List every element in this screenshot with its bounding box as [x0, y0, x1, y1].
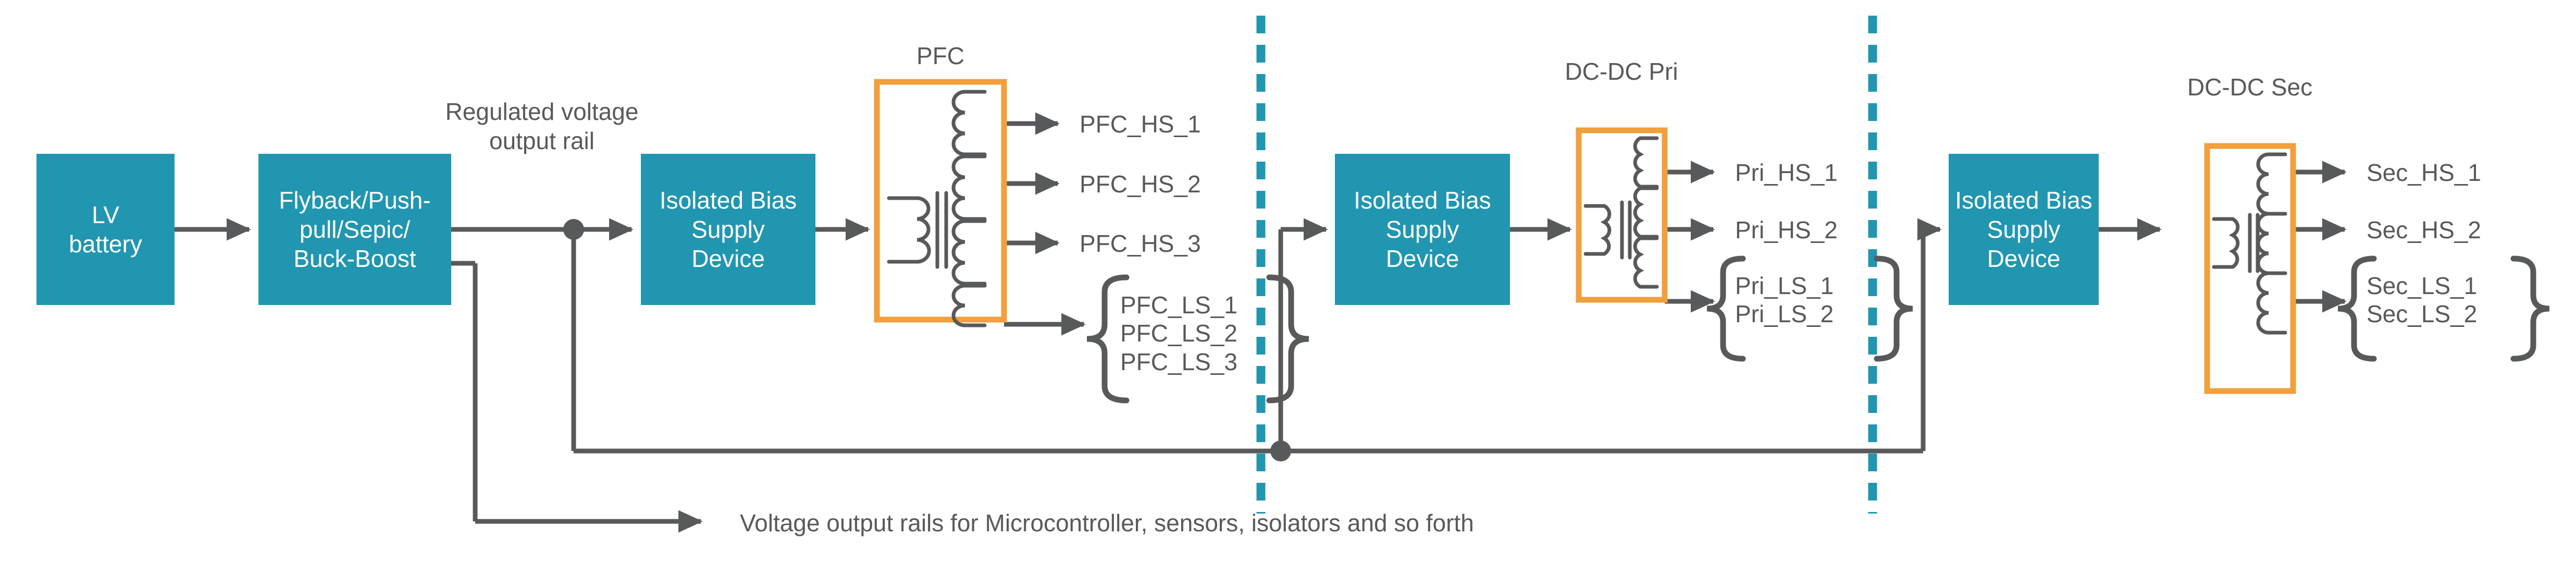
pin-sec-hs-1: Sec_HS_1: [2367, 158, 2481, 187]
pin-pfc-hs-1: PFC_HS_1: [1080, 109, 1201, 139]
label-regulated-rail: Regulated voltage output rail: [427, 97, 657, 155]
pin-pfc-hs-2: PFC_HS_2: [1080, 169, 1201, 199]
pin-group-sec-ls: Sec_LS_1 Sec_LS_2: [2367, 272, 2477, 328]
title-dcdc-sec: DC-DC Sec: [2146, 73, 2354, 101]
block-bias-supply-2-label: Isolated Bias Supply Device: [1354, 186, 1491, 273]
block-lv-battery[interactable]: LV battery: [36, 154, 175, 305]
block-bias-supply-2[interactable]: Isolated Bias Supply Device: [1335, 154, 1510, 305]
junction-dot-bottom: [1270, 441, 1291, 461]
pin-pri-hs-1: Pri_HS_1: [1735, 158, 1838, 187]
block-lv-battery-label: LV battery: [69, 200, 142, 259]
dcdc-sec-transformer-symbol: [2207, 146, 2293, 391]
title-pfc: PFC: [862, 42, 1019, 70]
pin-group-pfc-ls: PFC_LS_1 PFC_LS_2 PFC_LS_3: [1120, 291, 1237, 376]
block-bias-supply-3-label: Isolated Bias Supply Device: [1955, 186, 2092, 273]
block-converter[interactable]: Flyback/Push- pull/Sepic/ Buck-Boost: [258, 154, 451, 305]
brace-sec-ls-right: [2513, 259, 2549, 359]
pin-pfc-hs-3: PFC_HS_3: [1080, 229, 1201, 258]
junction-dot-rail: [563, 219, 584, 240]
pin-sec-hs-2: Sec_HS_2: [2367, 215, 2481, 245]
block-converter-label: Flyback/Push- pull/Sepic/ Buck-Boost: [279, 186, 430, 273]
title-dcdc-pri: DC-DC Pri: [1517, 57, 1726, 86]
block-bias-supply-1-label: Isolated Bias Supply Device: [660, 186, 797, 273]
diagram-canvas: LV battery Flyback/Push- pull/Sepic/ Buc…: [0, 0, 2576, 561]
label-micro-rails: Voltage output rails for Microcontroller…: [740, 508, 1626, 538]
dcdc-pri-transformer-symbol: [1579, 130, 1665, 300]
pfc-transformer-symbol: [877, 82, 1004, 325]
brace-pfc-ls-right: [1269, 277, 1309, 400]
block-bias-supply-1[interactable]: Isolated Bias Supply Device: [641, 154, 815, 305]
pin-pri-hs-2: Pri_HS_2: [1735, 215, 1838, 245]
pin-group-pri-ls: Pri_LS_1 Pri_LS_2: [1735, 272, 1834, 328]
brace-pri-ls-right: [1877, 259, 1913, 359]
block-bias-supply-3[interactable]: Isolated Bias Supply Device: [1949, 154, 2099, 305]
